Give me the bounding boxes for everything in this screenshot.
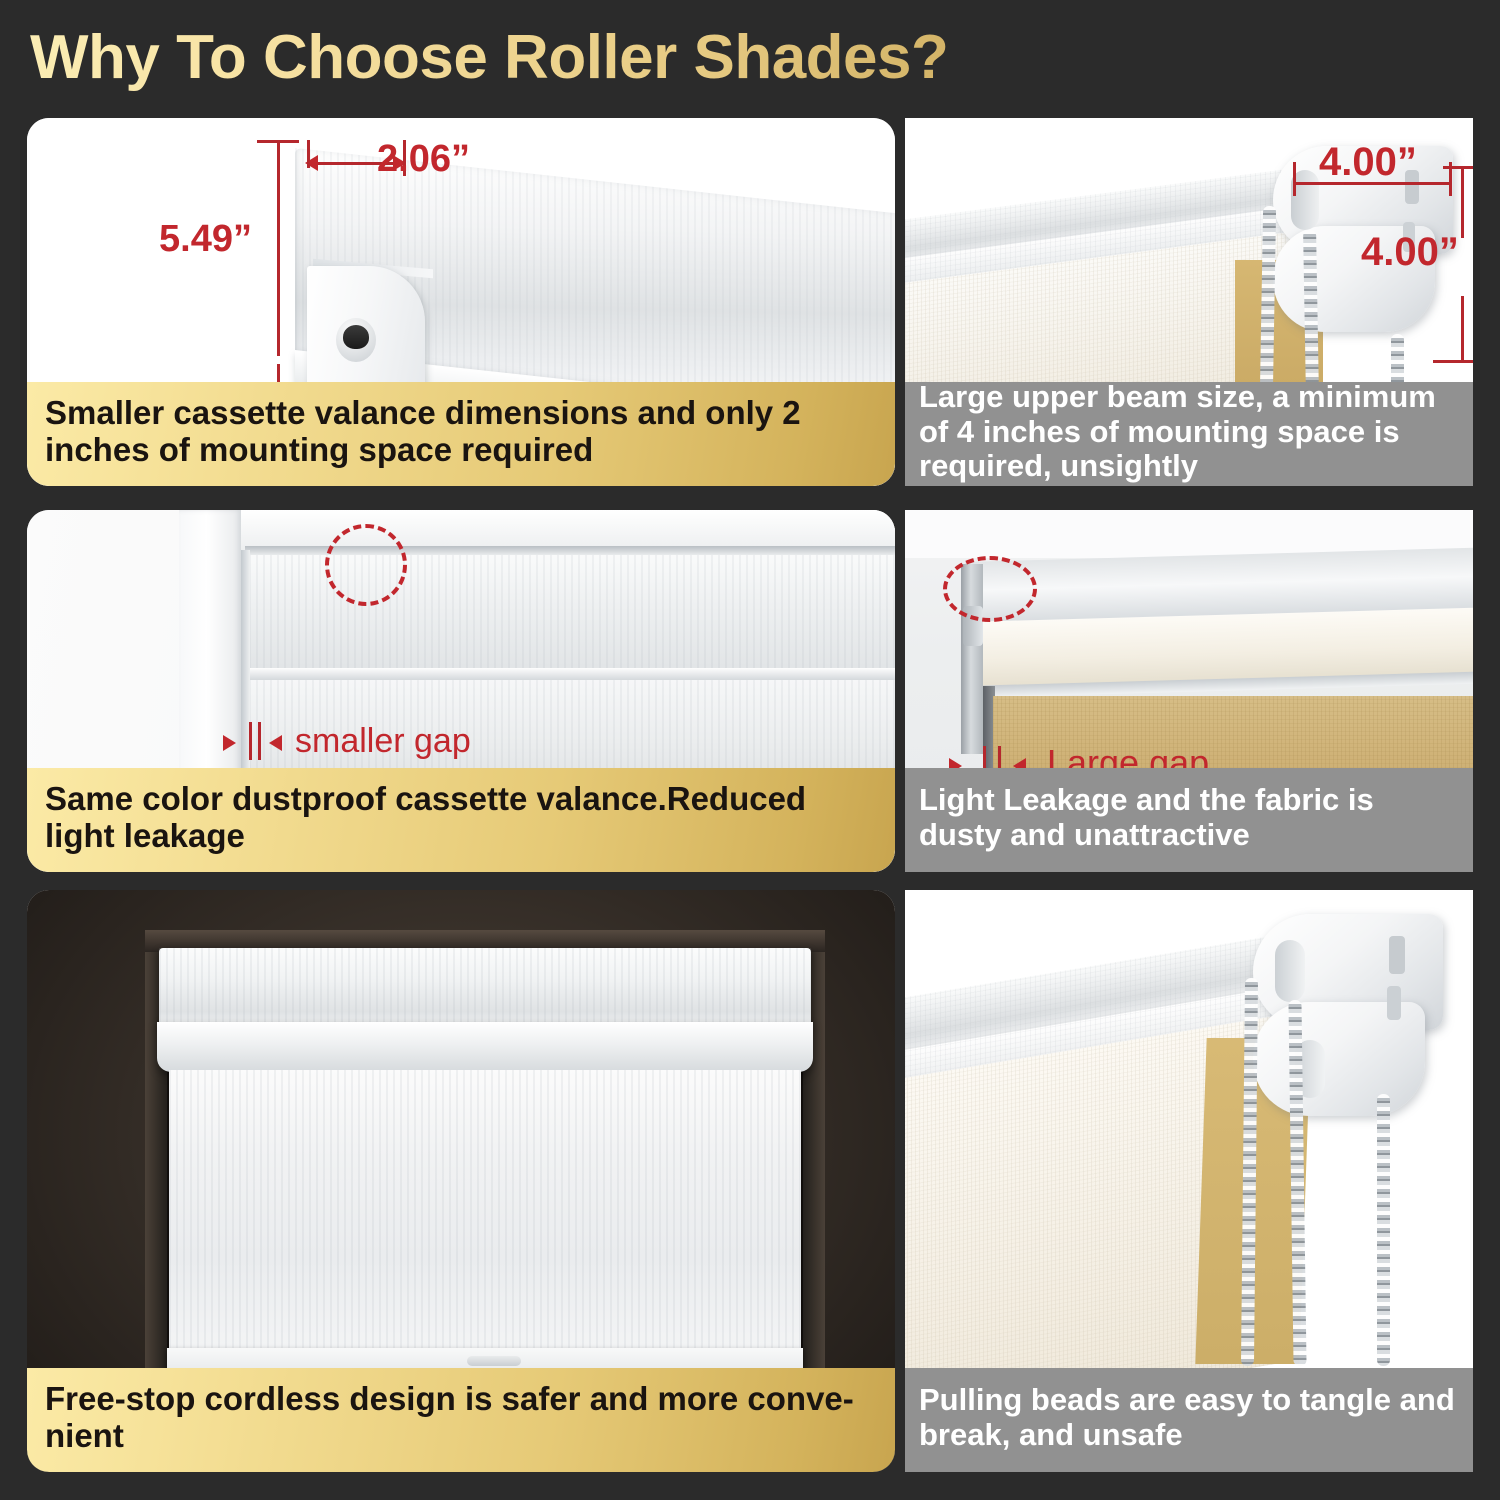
height-dimension-label: 5.49” xyxy=(155,218,256,261)
height-extension-top xyxy=(257,140,299,143)
panel-smaller-gap: smaller gap Same color dustproof cassett… xyxy=(27,510,895,872)
beam-height-label: 4.00” xyxy=(1361,230,1459,275)
panel-smaller-cassette: 2.06” xyxy=(27,118,895,486)
panel-1-caption-bar: Smaller cassette valance dimensions and … xyxy=(27,382,895,486)
gap-marker-2 xyxy=(258,722,261,760)
beam-height-line-lower xyxy=(1461,296,1464,362)
roller-shade-fabric xyxy=(169,1070,801,1360)
gap-highlight-circle xyxy=(943,556,1037,622)
panel-2-caption-text: Large upper beam size, a minimum of 4 in… xyxy=(919,380,1459,484)
panel-pulling-beads: Pulling beads are easy to tangle and bre… xyxy=(905,890,1473,1472)
gap-highlight-circle xyxy=(325,524,407,606)
bottom-rail-grip xyxy=(467,1356,521,1366)
gap-arrow-right xyxy=(269,735,282,751)
beam-height-line-upper xyxy=(1461,168,1464,238)
panel-6-caption-bar: Pulling beads are easy to tangle and bre… xyxy=(905,1368,1473,1472)
gap-callout-label: smaller gap xyxy=(295,722,471,761)
gap-arrow-left xyxy=(223,735,236,751)
beam-height-ext-bottom xyxy=(1433,360,1473,363)
page-title: Why To Choose Roller Shades? xyxy=(30,22,1230,94)
panel-3-caption-bar: Same color dustproof cassette valance.Re… xyxy=(27,768,895,872)
panel-free-stop-cordless: Free-stop cordless design is safer and m… xyxy=(27,890,895,1472)
cassette-knob xyxy=(336,318,376,362)
cassette-valance xyxy=(159,948,811,1030)
panel-3-caption-text: Same color dustproof cassette valance.Re… xyxy=(45,781,877,855)
width-dimension-label: 2.06” xyxy=(377,138,470,181)
bracket-detail-upper xyxy=(1275,940,1305,1002)
panel-6-caption-text: Pulling beads are easy to tangle and bre… xyxy=(919,1383,1459,1452)
width-extension-left xyxy=(307,140,310,168)
panel-large-upper-beam: 4.00” 4.00” Large upper beam size, a min… xyxy=(905,118,1473,486)
panel-5-caption-text: Free-stop cordless design is safer and m… xyxy=(45,1381,877,1455)
height-dimension-line-upper xyxy=(277,140,280,356)
gap-marker-1 xyxy=(249,722,252,760)
beam-width-ext-left xyxy=(1293,162,1296,196)
cassette-roll xyxy=(157,1022,813,1072)
panel-2-caption-bar: Large upper beam size, a minimum of 4 in… xyxy=(905,382,1473,486)
panel-1-caption-text: Smaller cassette valance dimensions and … xyxy=(45,395,877,469)
beam-height-ext-top xyxy=(1443,166,1473,169)
panel-4-caption-bar: Light Leakage and the fabric is dusty an… xyxy=(905,768,1473,872)
beam-width-label: 4.00” xyxy=(1319,140,1417,185)
panel-4-caption-text: Light Leakage and the fabric is dusty an… xyxy=(919,783,1459,852)
panel-5-caption-bar: Free-stop cordless design is safer and m… xyxy=(27,1368,895,1472)
panel-large-gap: Large gap Light Leakage and the fabric i… xyxy=(905,510,1473,872)
bead-chain-3 xyxy=(1377,1094,1390,1366)
